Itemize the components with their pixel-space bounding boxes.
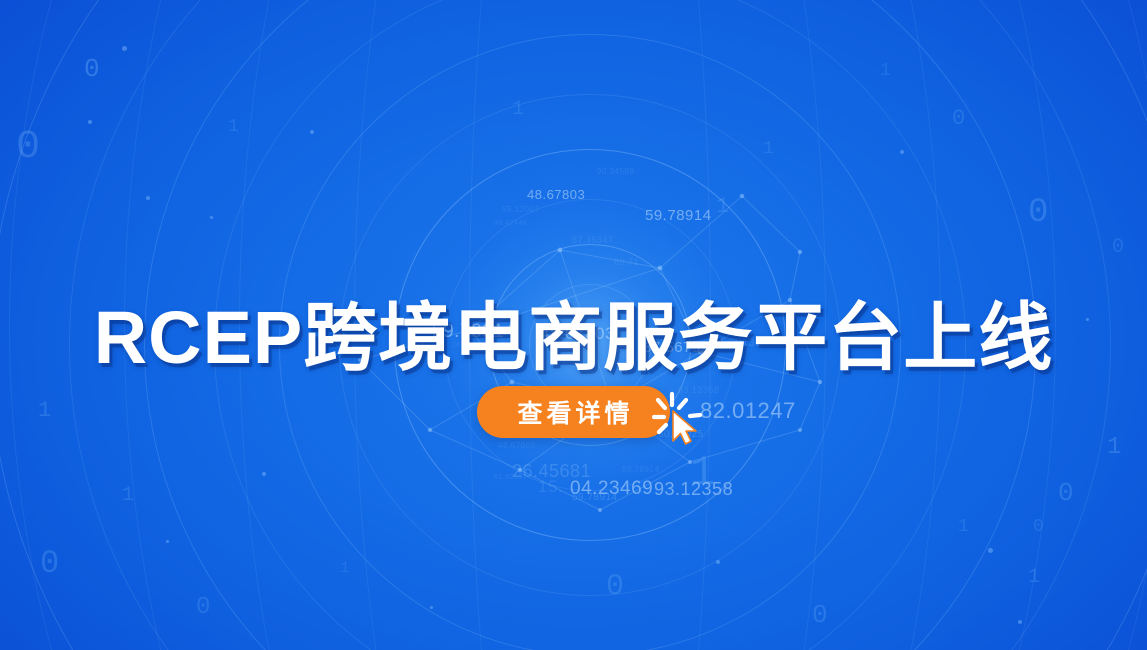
decimal-number: 59.78914 <box>645 208 712 223</box>
decimal-number: 15. <box>538 478 563 495</box>
binary-digit: 1 <box>340 560 350 576</box>
decimal-number: 55.12007 <box>502 206 539 214</box>
view-details-button[interactable]: 查看详情 <box>477 386 669 438</box>
binary-digit: 0 <box>1058 480 1074 506</box>
page-title: RCEP跨境电商服务平台上线 <box>0 278 1147 385</box>
decimal-number: 48.67803 <box>527 188 585 201</box>
binary-digit: 1 <box>228 118 239 136</box>
decimal-number: 59.78914 <box>622 466 659 474</box>
decimal-number: 48.67803 <box>498 442 535 450</box>
binary-digit: 0 <box>1033 518 1044 536</box>
binary-digit: 0 <box>812 602 828 628</box>
binary-digit: 1 <box>763 140 774 158</box>
binary-digit: 0 <box>1028 196 1048 230</box>
decimal-number: 61.92697 <box>494 474 527 481</box>
binary-digit: 1 <box>122 486 134 506</box>
binary-digit: 1 <box>958 518 969 536</box>
decimal-number: 93.12358 <box>654 480 733 498</box>
decimal-number: 59.78914 <box>572 493 618 503</box>
binary-digit: 0 <box>84 56 100 82</box>
binary-digit: 0 <box>606 572 624 602</box>
binary-digit: 1 <box>716 196 729 218</box>
view-details-label: 查看详情 <box>513 394 633 430</box>
binary-digit: 1 <box>512 100 524 120</box>
binary-digit: 0 <box>16 128 40 168</box>
binary-digit: 0 <box>1112 238 1124 258</box>
binary-digit: 0 <box>196 596 210 620</box>
decimal-number: 60.71 <box>614 258 639 267</box>
binary-digit: 1 <box>1028 568 1040 588</box>
decimal-number: 67.45347 <box>572 236 614 245</box>
binary-digit: 0 <box>40 548 59 580</box>
cta-container: 查看详情 <box>0 386 1147 438</box>
binary-digit: 1 <box>880 62 891 80</box>
binary-digit: 1 <box>1107 436 1121 460</box>
rcep-promo-banner: 00101101101110001101001 48.6780359.78914… <box>0 0 1147 650</box>
decimal-number: 90.34569 <box>597 168 634 176</box>
decimal-number: 30.42448 <box>494 220 527 227</box>
binary-digit: 0 <box>952 108 965 130</box>
